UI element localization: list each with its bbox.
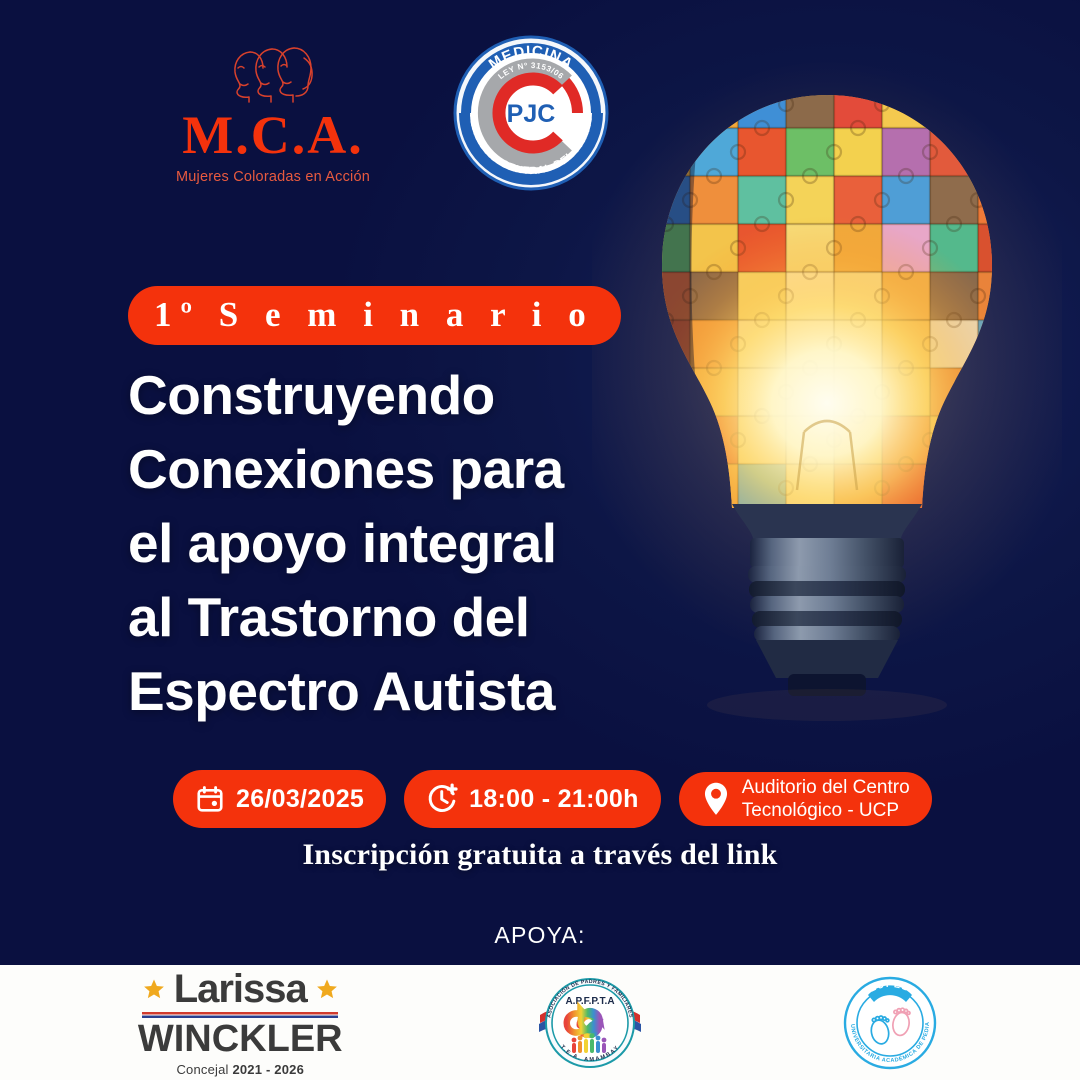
mca-logo: M.C.A. Mujeres Coloradas en Acción bbox=[128, 44, 418, 185]
headline-line-4: al Trastorno del bbox=[128, 580, 658, 654]
calendar-icon bbox=[195, 784, 225, 814]
date-pill[interactable]: 26/03/2025 bbox=[173, 770, 386, 828]
sponsor-larissa-winckler: Larissa WINCKLER Concejal 2021 - 2026 bbox=[138, 969, 343, 1076]
headline-line-1: Construyendo bbox=[128, 358, 658, 432]
location-pill-label: Auditorio del Centro Tecnológico - UCP bbox=[742, 776, 910, 822]
pjc-university-seal: PJC MEDICINA LEY Nº 3153/06 UNIVERSIDAD … bbox=[452, 34, 610, 192]
seminar-poster: M.C.A. Mujeres Coloradas en Acción bbox=[0, 0, 1080, 1080]
sponsor-role: Concejal 2021 - 2026 bbox=[138, 1063, 343, 1076]
time-pill[interactable]: 18:00 - 21:00h bbox=[404, 770, 661, 828]
sponsors-footer: Larissa WINCKLER Concejal 2021 - 2026 bbox=[0, 965, 1080, 1080]
registration-note: Inscripción gratuita a través del link bbox=[0, 838, 1080, 872]
luped-logo-icon: LUPED LIGA UNIVERSITARIA ACADÉMICA DE PE… bbox=[838, 971, 942, 1075]
svg-text:A.P.F.P.T.A: A.P.F.P.T.A bbox=[566, 996, 615, 1007]
seminar-badge-label: 1º S e m i n a r i o bbox=[154, 297, 595, 332]
clock-plus-icon bbox=[426, 783, 458, 815]
sponsor-role-years: 2021 - 2026 bbox=[232, 1062, 304, 1077]
sponsor-luped: LUPED LIGA UNIVERSITARIA ACADÉMICA DE PE… bbox=[838, 971, 942, 1075]
time-pill-label: 18:00 - 21:00h bbox=[469, 785, 639, 814]
headline-line-3: el apoyo integral bbox=[128, 506, 658, 580]
headline-line-5: Espectro Autista bbox=[128, 654, 658, 728]
location-pill[interactable]: Auditorio del Centro Tecnológico - UCP bbox=[679, 772, 932, 826]
headline-line-2: Conexiones para bbox=[128, 432, 658, 506]
page-title: Construyendo Conexiones para el apoyo in… bbox=[128, 358, 658, 728]
location-line-2: Tecnológico - UCP bbox=[742, 799, 910, 822]
svg-text:PJC: PJC bbox=[507, 100, 556, 128]
three-women-faces-icon bbox=[216, 44, 331, 106]
sponsor-first-name: Larissa bbox=[174, 969, 307, 1009]
sponsor-apfpta: A.P.F.P.T.A ASOCIACIÓN DE PADRES Y FAMI bbox=[538, 971, 642, 1075]
mca-subtitle: Mujeres Coloradas en Acción bbox=[128, 169, 418, 185]
star-icon-left bbox=[143, 978, 165, 1000]
sponsor-last-name: WINCKLER bbox=[138, 1020, 343, 1058]
mca-title: M.C.A. bbox=[128, 108, 418, 162]
sponsor-role-prefix: Concejal bbox=[176, 1062, 232, 1077]
star-icon-right bbox=[316, 978, 338, 1000]
sponsors-heading: APOYA: bbox=[0, 922, 1080, 949]
university-seal-icon: PJC MEDICINA LEY Nº 3153/06 UNIVERSIDAD … bbox=[452, 34, 610, 192]
puzzle-lightbulb-illustration bbox=[592, 60, 1062, 760]
apfpta-logo-icon: A.P.F.P.T.A ASOCIACIÓN DE PADRES Y FAMI bbox=[538, 971, 642, 1075]
date-pill-label: 26/03/2025 bbox=[236, 785, 364, 814]
seminar-badge: 1º S e m i n a r i o bbox=[128, 286, 621, 345]
location-line-1: Auditorio del Centro bbox=[742, 776, 910, 799]
map-pin-icon bbox=[701, 781, 731, 817]
event-info-pills: 26/03/2025 18:00 - 21:00h Auditorio del … bbox=[173, 770, 932, 828]
